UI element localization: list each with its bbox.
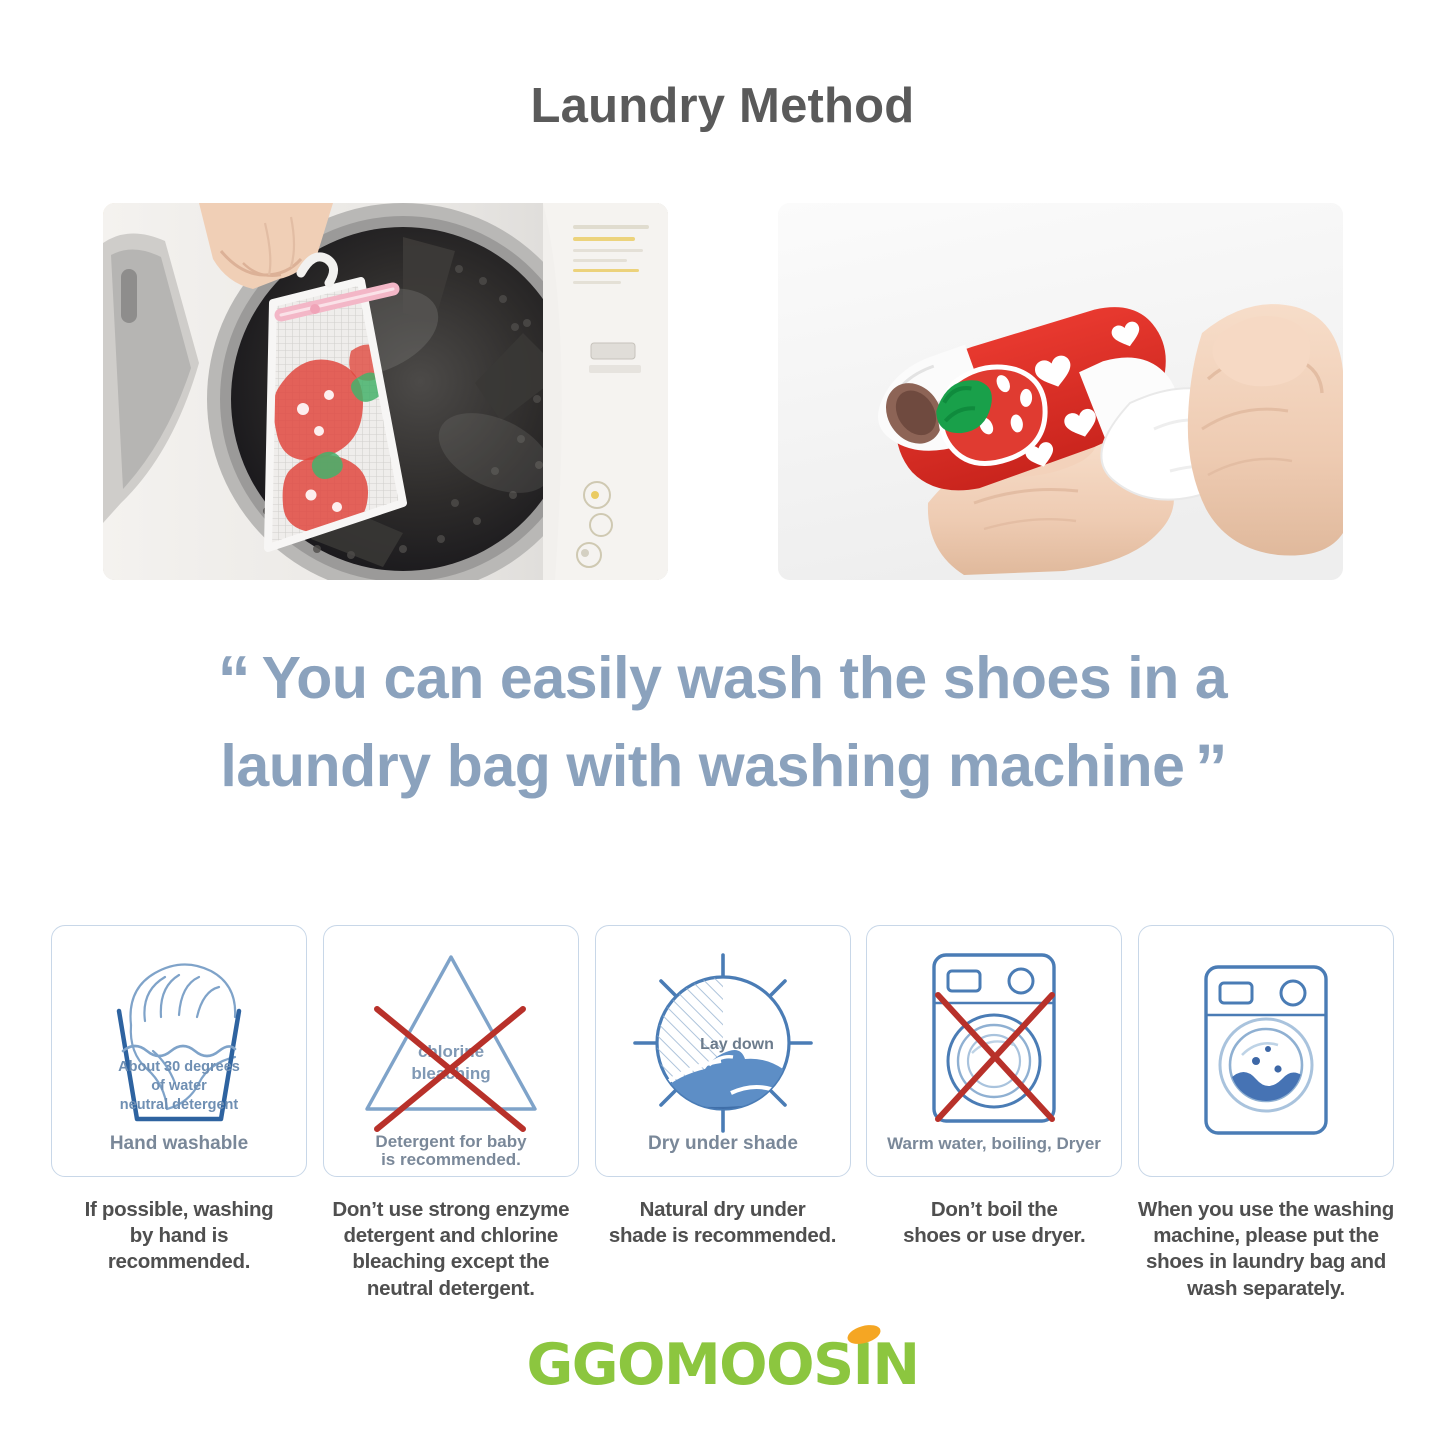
wiping-shoe-photo-graphic	[778, 203, 1343, 580]
quote-block: “You can easily wash the shoes in a laun…	[0, 636, 1445, 812]
icon-line-3: neutral detergent	[120, 1097, 239, 1113]
caption-line: Don’t use strong enzyme	[320, 1197, 582, 1223]
close-quote-icon: ”	[1195, 730, 1225, 804]
caption-line: shoes or use dryer.	[863, 1223, 1125, 1249]
icon-label: Dry under shade	[648, 1133, 798, 1154]
care-caption: Natural dry under shade is recommended.	[592, 1197, 854, 1249]
wiping-shoe-with-cloth-photo	[778, 203, 1343, 580]
care-item-machine-wash: When you use the washing machine, please…	[1137, 925, 1395, 1302]
care-caption: If possible, washing by hand is recommen…	[48, 1197, 310, 1276]
dry-in-shade-sun-shoe-icon: Lay down Dry under shade	[605, 933, 841, 1169]
caption-line: detergent and chlorine	[320, 1223, 582, 1249]
washing-machine-water-icon	[1148, 933, 1384, 1169]
care-item-no-dryer: Warm water, boiling, Dryer Don’t boil th…	[865, 925, 1123, 1302]
icon-label: Warm water, boiling, Dryer	[887, 1134, 1101, 1153]
caption-line: recommended.	[48, 1249, 310, 1275]
caption-line: shoes in laundry bag and	[1135, 1249, 1397, 1275]
care-item-hand-wash: About 30 degrees of water neutral deterg…	[50, 925, 308, 1302]
icon-label-line-1: Detergent for baby	[375, 1132, 527, 1151]
quote-line-2: laundry bag with washing machine”	[30, 724, 1415, 812]
caption-line: machine, please put the	[1135, 1223, 1397, 1249]
brand-logo-text: GGOMOOSIN	[526, 1332, 918, 1398]
icon-label-line-2: is recommended.	[381, 1150, 521, 1169]
care-item-dry-in-shade: Lay down Dry under shade Natural dry und…	[594, 925, 852, 1302]
caption-line: neutral detergent.	[320, 1276, 582, 1302]
red-cross-icon	[377, 1009, 523, 1129]
washing-machine-photo-graphic	[103, 203, 668, 580]
icon-line-2: of water	[151, 1078, 207, 1094]
hand-wash-basin-icon: About 30 degrees of water neutral deterg…	[61, 933, 297, 1169]
care-item-no-bleach: chlorine bleaching Detergent for baby is…	[322, 925, 580, 1302]
quote-text-line-2: laundry bag with washing machine	[220, 733, 1184, 799]
care-instruction-row: About 30 degrees of water neutral deterg…	[50, 925, 1395, 1302]
caption-line: shade is recommended.	[592, 1223, 854, 1249]
no-chlorine-bleach-triangle-icon: chlorine bleaching Detergent for baby is…	[333, 933, 569, 1169]
open-quote-icon: “	[218, 642, 248, 716]
icon-label: Hand washable	[110, 1133, 248, 1154]
caption-line: bleaching except the	[320, 1249, 582, 1275]
care-caption: When you use the washing machine, please…	[1135, 1197, 1397, 1302]
laundry-bag-in-washing-machine-photo	[103, 203, 668, 580]
no-dryer-washing-machine-icon: Warm water, boiling, Dryer	[876, 933, 1112, 1169]
care-icon-box: About 30 degrees of water neutral deterg…	[51, 925, 307, 1177]
care-icon-box: Warm water, boiling, Dryer	[866, 925, 1122, 1177]
caption-line: Natural dry under	[592, 1197, 854, 1223]
caption-line: If possible, washing	[48, 1197, 310, 1223]
icon-line-1: About 30 degrees	[118, 1059, 240, 1075]
care-icon-box: Lay down Dry under shade	[595, 925, 851, 1177]
photo-row	[103, 203, 1343, 580]
caption-line: Don’t boil the	[863, 1197, 1125, 1223]
care-icon-box	[1138, 925, 1394, 1177]
caption-line: by hand is	[48, 1223, 310, 1249]
care-caption: Don’t boil the shoes or use dryer.	[863, 1197, 1125, 1249]
care-caption: Don’t use strong enzyme detergent and ch…	[320, 1197, 582, 1302]
quote-line-1: “You can easily wash the shoes in a	[30, 636, 1415, 724]
quote-text-line-1: You can easily wash the shoes in a	[262, 645, 1228, 711]
caption-line: When you use the washing	[1135, 1197, 1397, 1223]
caption-line: wash separately.	[1135, 1276, 1397, 1302]
care-icon-box: chlorine bleaching Detergent for baby is…	[323, 925, 579, 1177]
page-title: Laundry Method	[0, 78, 1445, 134]
brand-logo: GGOMOOSIN	[0, 1332, 1445, 1398]
